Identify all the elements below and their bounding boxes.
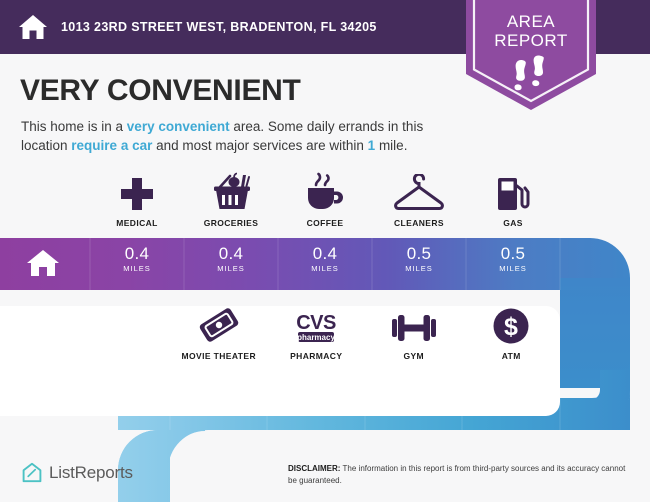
distance-cell: 0.4 MILES [184,244,278,274]
disclaimer-label: DISCLAIMER: [288,464,340,473]
svg-text:$: $ [504,313,518,341]
distance-value: 0.5 [372,244,466,263]
distance-value: 1 [268,388,366,407]
desc-part-3: and most major services are within [152,138,367,153]
distance-unit: MILE [268,407,366,418]
distance-value: 1.1 [170,388,268,407]
distance-unit: MILES [372,263,466,274]
distance-cell: 0.5 MILES [372,244,466,274]
amenity-label: MEDICAL [116,218,158,228]
amenity-label: MOVIE THEATER [182,351,256,361]
distance-unit: MILES [90,263,184,274]
distance-cell: 0.5 MILES [466,244,560,274]
amenity-icon-row-2: MOVIE THEATER CVS pharmacy PHARMACY GYM [170,305,560,361]
distance-value: 0.7 [365,388,463,407]
amenity-label: GYM [403,351,424,361]
home-marker-icon [26,248,60,278]
distance-value: 0.6 [463,388,561,407]
amenity-label: COFFEE [307,218,344,228]
desc-part-4: mile. [375,138,407,153]
distance-unit: MILES [278,263,372,274]
amenity-label: CLEANERS [394,218,444,228]
dollar-circle-icon: $ [492,305,530,345]
distance-cell: 0.7 MILES [365,388,463,418]
amenity-gas: GAS [466,172,560,228]
home-icon [18,13,48,41]
amenity-gym: GYM [365,305,463,361]
desc-highlight-1: very convenient [127,119,230,134]
amenity-medical: MEDICAL [90,172,184,228]
distance-cell: 0.4 MILES [278,244,372,274]
distance-value: 0.5 [466,244,560,263]
description: This home is in a very convenient area. … [21,117,461,155]
medical-cross-icon [119,172,155,212]
property-address: 1013 23RD STREET WEST, BRADENTON, FL 342… [61,20,377,34]
desc-part-1: This home is in a [21,119,127,134]
listreports-logo[interactable]: ListReports [22,462,133,484]
distance-cell: 1.1 MILES [170,388,268,418]
badge-line-1: AREA [507,12,555,31]
distance-unit: MILES [170,407,268,418]
amenity-label: GROCERIES [204,218,259,228]
gas-pump-icon [496,172,530,212]
listreports-house-icon [22,462,42,484]
coffee-cup-icon [304,172,346,212]
distance-cell: 0.4 MILES [90,244,184,274]
disclaimer: DISCLAIMER: The information in this repo… [288,463,628,486]
amenity-cleaners: CLEANERS [372,172,466,228]
distance-value: 0.4 [278,244,372,263]
clothes-hanger-icon [393,172,445,212]
distance-values-row-1: 0.4 MILES 0.4 MILES 0.4 MILES 0.5 MILES … [90,244,560,274]
distance-values-row-2: 1.1 MILES 1 MILE 0.7 MILES 0.6 MILES [170,388,560,418]
amenity-atm: $ ATM [463,305,561,361]
cvs-pharmacy-icon: CVS pharmacy [289,305,343,345]
svg-text:CVS: CVS [296,312,336,334]
distance-cell: 0.6 MILES [463,388,561,418]
distance-value: 0.4 [90,244,184,263]
amenity-icon-row-1: MEDICAL GROCERIES COFFEE [90,172,560,228]
amenity-movie-theater: MOVIE THEATER [170,305,268,361]
amenity-pharmacy: CVS pharmacy PHARMACY [268,305,366,361]
svg-text:pharmacy: pharmacy [297,333,335,342]
badge-label: AREA REPORT [466,12,596,50]
distance-unit: MILES [466,263,560,274]
desc-highlight-2: require a car [71,138,152,153]
distance-unit: MILES [365,407,463,418]
amenity-groceries: GROCERIES [184,172,278,228]
amenity-coffee: COFFEE [278,172,372,228]
page-title: VERY CONVENIENT [20,74,301,108]
area-report-badge: AREA REPORT [466,0,596,110]
distance-cell: 1 MILE [268,388,366,418]
movie-ticket-icon [198,305,240,345]
amenity-label: ATM [502,351,521,361]
amenity-label: PHARMACY [290,351,342,361]
distance-unit: MILES [463,407,561,418]
distance-unit: MILES [184,263,278,274]
badge-line-2: REPORT [494,31,568,50]
grocery-basket-icon [210,172,252,212]
listreports-logo-text: ListReports [49,463,133,483]
distance-value: 0.4 [184,244,278,263]
dumbbell-icon [390,305,438,345]
amenity-label: GAS [503,218,523,228]
